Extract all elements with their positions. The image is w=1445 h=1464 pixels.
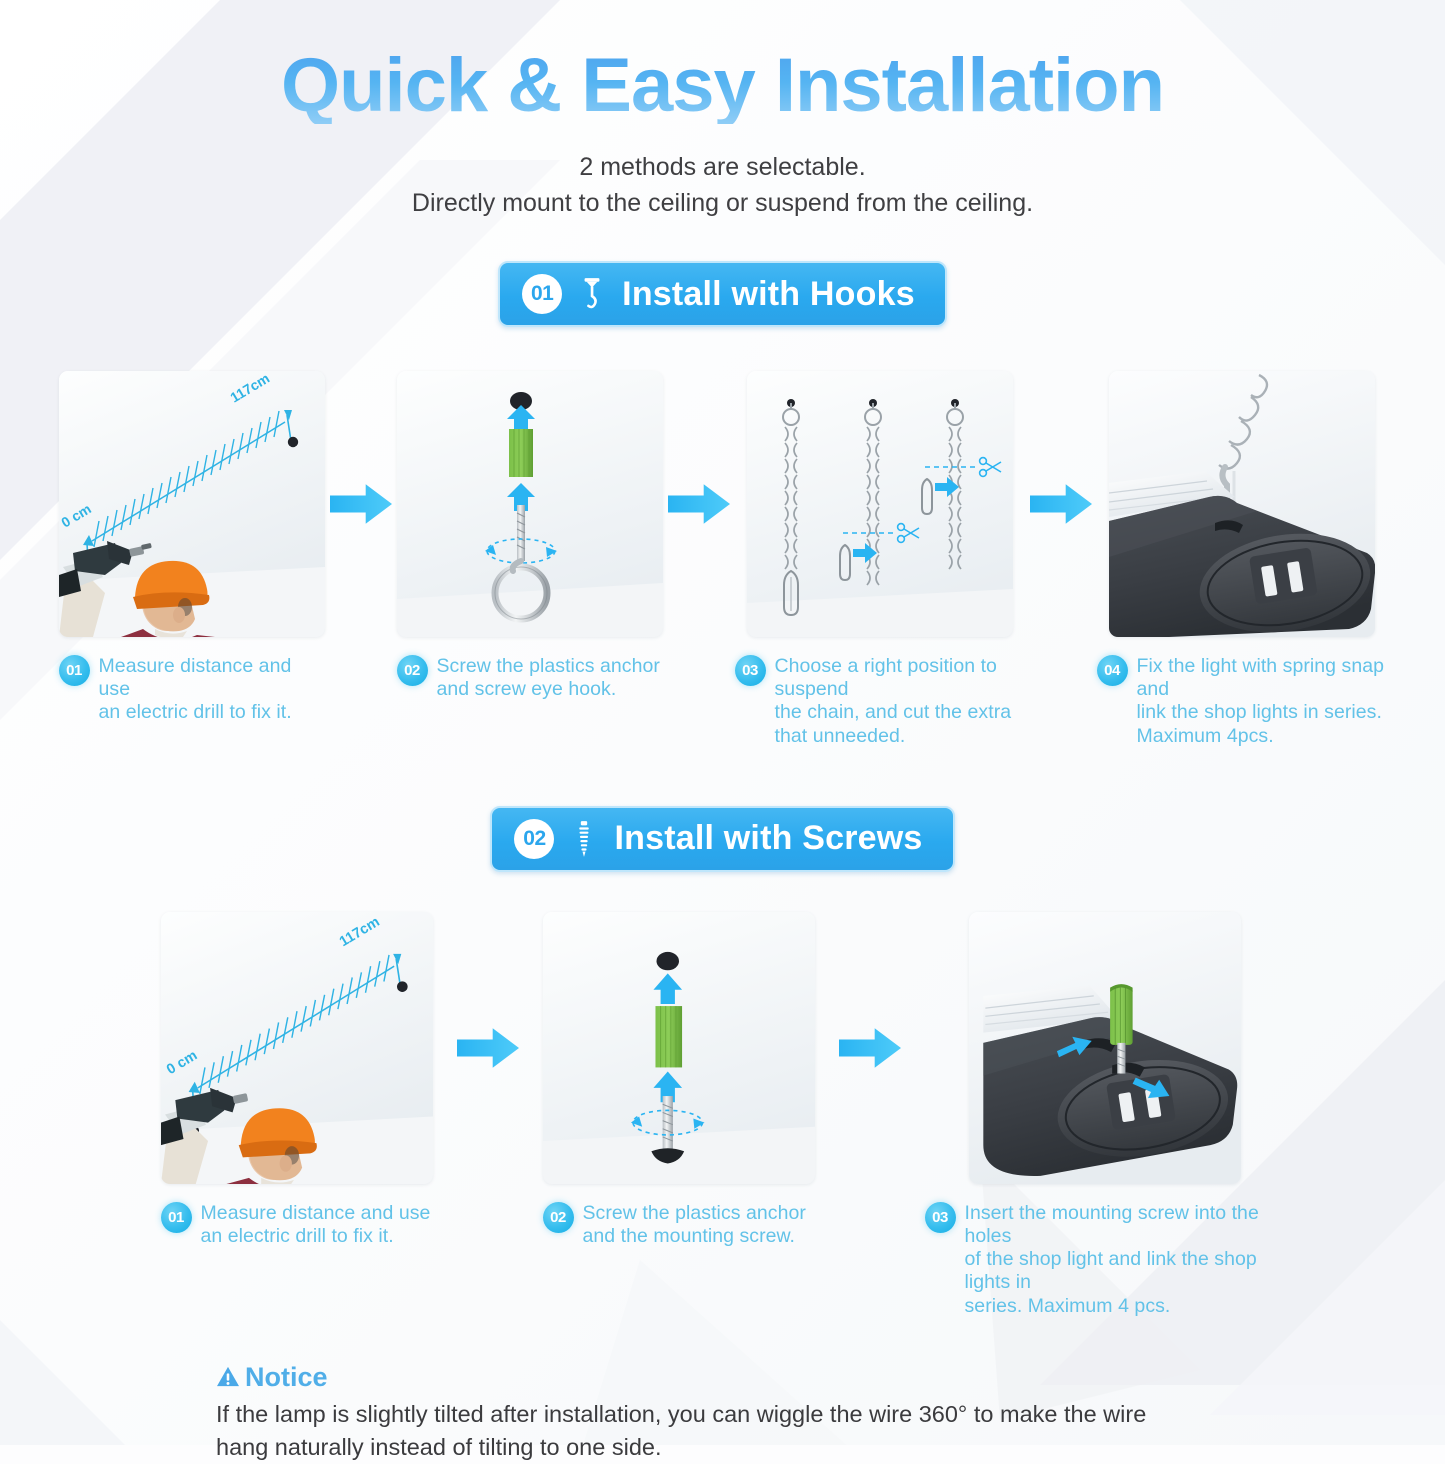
step-badge: 04 xyxy=(1097,655,1128,686)
step-panel-hooks-02: 02 Screw the plastics anchor and screw e… xyxy=(397,371,663,701)
step-panel-hooks-04: 04 Fix the light with spring snap and li… xyxy=(1097,371,1387,748)
section-label-screws: Install with Screws xyxy=(614,819,922,858)
step-panel-screws-02: 02 Screw the plastics anchor and the mou… xyxy=(543,912,815,1248)
image-anchor-and-eye-hook xyxy=(397,371,663,637)
page-header: Quick & Easy Installation 2 methods are … xyxy=(0,0,1445,221)
caption-line: Maximum 4pcs. xyxy=(1137,725,1387,748)
section-label-hooks: Install with Hooks xyxy=(622,275,915,314)
caption-line: an electric drill to fix it. xyxy=(201,1225,431,1248)
caption-line: Fix the light with spring snap and xyxy=(1137,655,1387,701)
step-badge: 01 xyxy=(161,1202,192,1233)
notice-body: If the lamp is slightly tilted after ins… xyxy=(216,1398,1385,1464)
flow-arrow-1 xyxy=(325,371,397,637)
caption-line: Measure distance and use xyxy=(201,1202,431,1225)
step-caption-screws-01: 01 Measure distance and use an electric … xyxy=(161,1202,433,1248)
image-anchor-and-mounting-screw xyxy=(543,912,815,1184)
caption-line: link the shop lights in series. xyxy=(1137,701,1387,724)
steps-flow-hooks: 0 cm 117cm xyxy=(0,371,1445,748)
image-measure-drill-ceiling: 0 cm 117cm xyxy=(59,371,325,637)
step-text: Fix the light with spring snap and link … xyxy=(1137,655,1387,748)
step-caption-hooks-04: 04 Fix the light with spring snap and li… xyxy=(1097,655,1387,748)
step-caption-screws-02: 02 Screw the plastics anchor and the mou… xyxy=(543,1202,815,1248)
caption-line: that unneeded. xyxy=(775,725,1025,748)
caption-line: Screw the plastics anchor xyxy=(583,1202,806,1225)
hook-icon xyxy=(578,274,606,314)
image-measure-drill-ceiling: 0 cm 117cm xyxy=(161,912,433,1184)
image-shop-light-mounting-screw xyxy=(969,912,1241,1184)
step-panel-hooks-01: 0 cm 117cm xyxy=(59,371,325,725)
caption-line: and the mounting screw. xyxy=(583,1225,806,1248)
right-arrow-icon xyxy=(1030,482,1092,526)
caption-line: Choose a right position to suspend xyxy=(775,655,1025,701)
step-caption-hooks-02: 02 Screw the plastics anchor and screw e… xyxy=(397,655,663,701)
flow-arrow-2 xyxy=(663,371,735,637)
step-panel-hooks-03: 03 Choose a right position to suspend th… xyxy=(735,371,1025,748)
image-shop-light-spring-snap xyxy=(1109,371,1375,637)
step-caption-hooks-01: 01 Measure distance and use an electric … xyxy=(59,655,325,725)
step-text: Choose a right position to suspend the c… xyxy=(775,655,1025,748)
step-text: Insert the mounting screw into the holes… xyxy=(965,1202,1285,1318)
step-text: Screw the plastics anchor and screw eye … xyxy=(437,655,660,701)
step-text: Measure distance and use an electric dri… xyxy=(99,655,325,725)
caption-line: an electric drill to fix it. xyxy=(99,701,325,724)
step-badge: 01 xyxy=(59,655,90,686)
flow-arrow-5 xyxy=(815,912,925,1184)
flow-arrow-3 xyxy=(1025,371,1097,637)
step-badge: 03 xyxy=(735,655,766,686)
section-banner-hooks[interactable]: 01 Install with Hooks xyxy=(498,261,947,327)
page-subtitle: 2 methods are selectable. Directly mount… xyxy=(0,150,1445,221)
subtitle-line-2: Directly mount to the ceiling or suspend… xyxy=(0,186,1445,222)
caption-line: and screw eye hook. xyxy=(437,678,660,701)
notice-line: If the lamp is slightly tilted after ins… xyxy=(216,1398,1385,1431)
caption-line: Insert the mounting screw into the holes xyxy=(965,1202,1285,1248)
notice-header: Notice xyxy=(216,1362,1385,1393)
step-badge: 03 xyxy=(925,1202,956,1233)
caption-line: Measure distance and use xyxy=(99,655,325,701)
caption-line: the chain, and cut the extra xyxy=(775,701,1025,724)
steps-flow-screws: 0 cm 117cm xyxy=(0,912,1445,1318)
step-badge: 02 xyxy=(543,1202,574,1233)
step-caption-screws-03: 03 Insert the mounting screw into the ho… xyxy=(925,1202,1285,1318)
section-banner-screws[interactable]: 02 Install with Screws xyxy=(490,806,954,872)
caption-line: of the shop light and link the shop ligh… xyxy=(965,1248,1285,1294)
notice-title: Notice xyxy=(245,1362,328,1393)
step-text: Screw the plastics anchor and the mounti… xyxy=(583,1202,806,1248)
caption-line: Screw the plastics anchor xyxy=(437,655,660,678)
notice-line: hang naturally instead of tilting to one… xyxy=(216,1431,1385,1464)
image-three-chains-cut xyxy=(747,371,1013,637)
right-arrow-icon xyxy=(668,482,730,526)
flow-arrow-4 xyxy=(433,912,543,1184)
notice-section: Notice If the lamp is slightly tilted af… xyxy=(0,1362,1445,1464)
section-number-badge: 01 xyxy=(522,274,562,314)
power-socket xyxy=(1249,547,1318,604)
subtitle-line-1: 2 methods are selectable. xyxy=(0,150,1445,186)
warning-triangle-icon xyxy=(216,1366,240,1388)
caption-line: series. Maximum 4 pcs. xyxy=(965,1295,1285,1318)
page-title: Quick & Easy Installation xyxy=(0,48,1445,124)
step-text: Measure distance and use an electric dri… xyxy=(201,1202,431,1248)
step-badge: 02 xyxy=(397,655,428,686)
right-arrow-icon xyxy=(457,1026,519,1070)
step-caption-hooks-03: 03 Choose a right position to suspend th… xyxy=(735,655,1025,748)
section-number-badge: 02 xyxy=(514,819,554,859)
right-arrow-icon xyxy=(330,482,392,526)
right-arrow-icon xyxy=(839,1026,901,1070)
step-panel-screws-01: 0 cm 117cm xyxy=(161,912,433,1248)
screw-icon xyxy=(570,819,598,859)
step-panel-screws-03: 03 Insert the mounting screw into the ho… xyxy=(925,912,1285,1318)
